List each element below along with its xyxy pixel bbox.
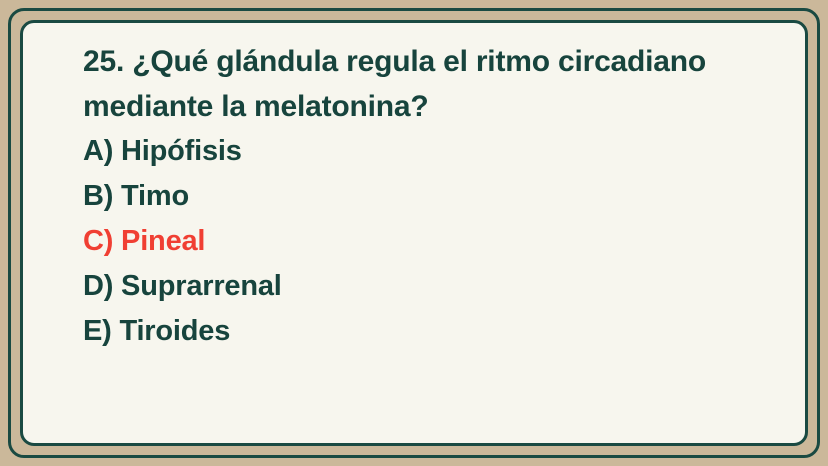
quiz-slide: 25. ¿Qué glándula regula el ritmo circad… bbox=[0, 0, 828, 466]
decorative-frame-inner: 25. ¿Qué glándula regula el ritmo circad… bbox=[20, 20, 808, 446]
option-b[interactable]: B) Timo bbox=[83, 174, 765, 219]
option-c[interactable]: C) Pineal bbox=[83, 219, 765, 264]
option-a[interactable]: A) Hipófisis bbox=[83, 129, 765, 174]
option-e[interactable]: E) Tiroides bbox=[83, 309, 765, 354]
option-d[interactable]: D) Suprarrenal bbox=[83, 264, 765, 309]
question-text: 25. ¿Qué glándula regula el ritmo circad… bbox=[83, 39, 765, 129]
options-list: A) Hipófisis B) Timo C) Pineal D) Suprar… bbox=[83, 129, 765, 354]
slide-content: 25. ¿Qué glándula regula el ritmo circad… bbox=[83, 39, 765, 427]
